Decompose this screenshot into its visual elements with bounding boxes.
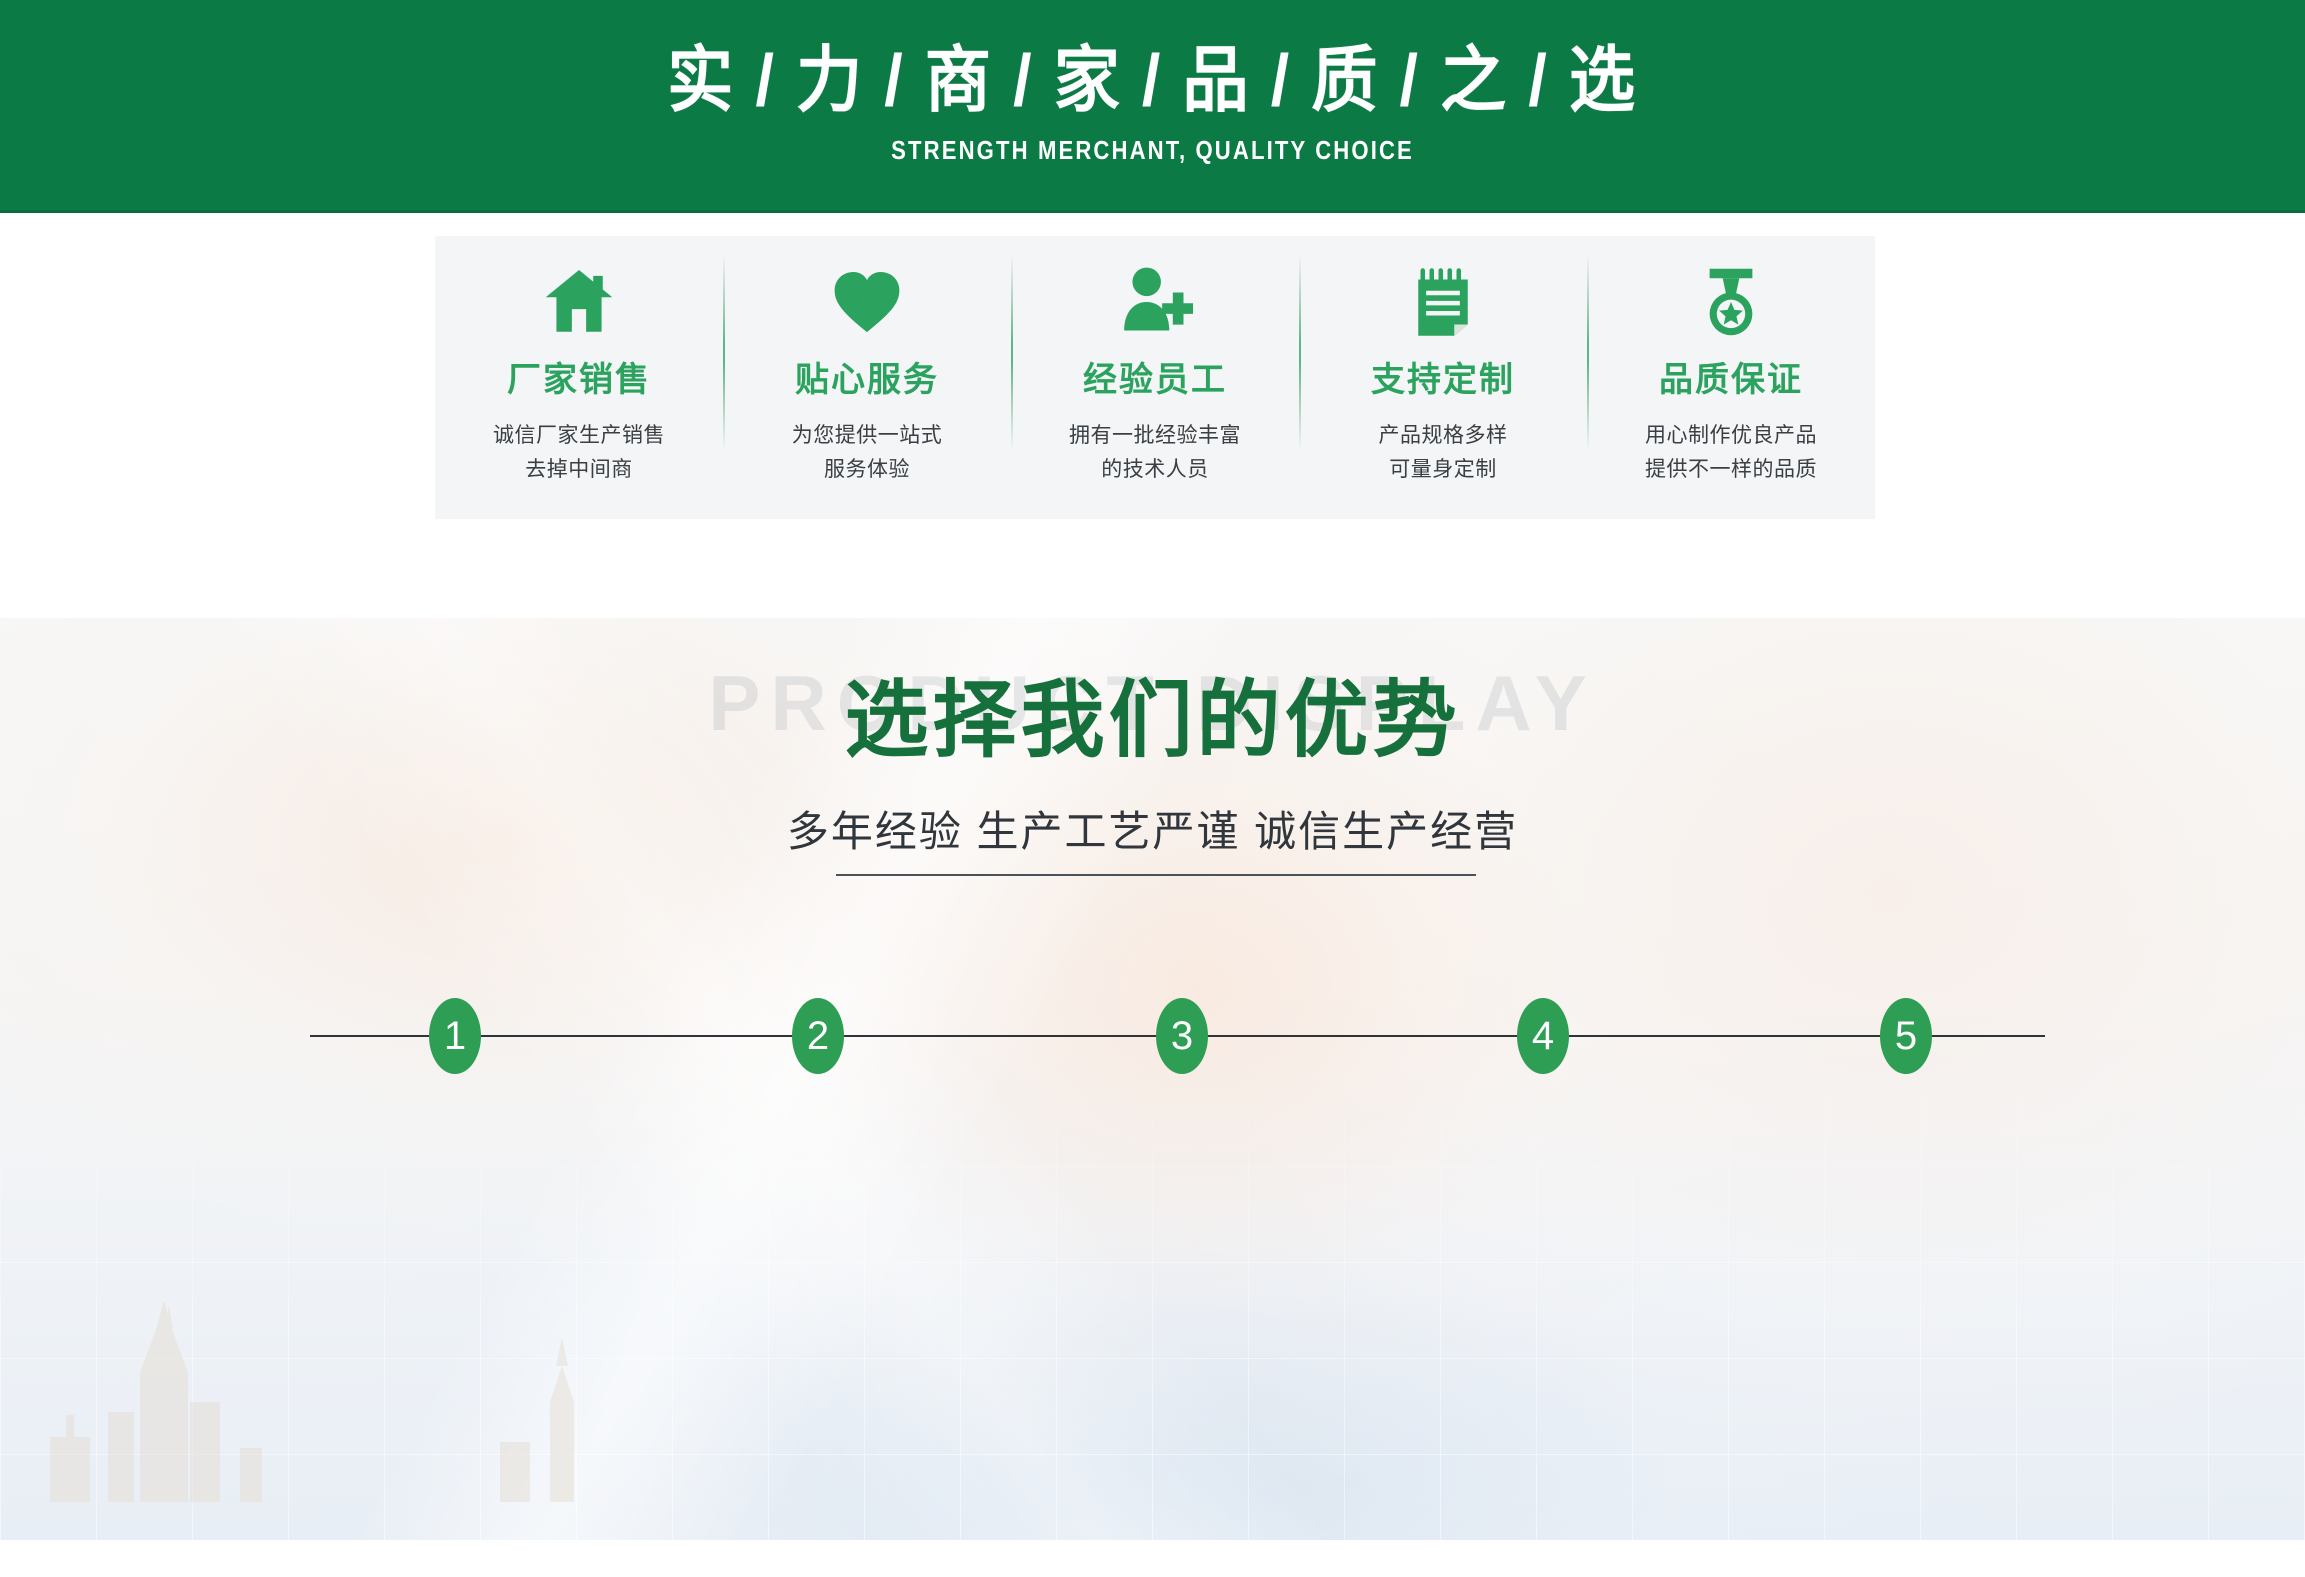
feature-desc-line2: 提供不一样的品质 — [1645, 453, 1817, 488]
banner-subtitle: STRENGTH MERCHANT, QUALITY CHOICE — [891, 135, 1414, 166]
top-banner: 实 / 力 / 商 / 家 / 品 / 质 / 之 / 选 STRENGTH M… — [0, 0, 2305, 213]
notepad-icon — [1399, 258, 1487, 346]
feature-desc: 为您提供一站式 服务体验 — [792, 419, 943, 488]
feature-item-factory-sales[interactable]: 厂家销售 诚信厂家生产销售 去掉中间商 — [435, 236, 723, 519]
step-badge-5[interactable]: 5 — [1880, 998, 1932, 1074]
feature-desc-line1: 拥有一批经验丰富 — [1069, 419, 1241, 454]
footer-strip — [0, 1540, 2305, 1577]
feature-desc-line2: 可量身定制 — [1379, 453, 1508, 488]
feature-desc: 产品规格多样 可量身定制 — [1379, 419, 1508, 488]
house-icon — [535, 258, 623, 346]
feature-item-customization[interactable]: 支持定制 产品规格多样 可量身定制 — [1299, 236, 1587, 519]
feature-desc-line2: 去掉中间商 — [493, 453, 665, 488]
feature-title: 经验员工 — [1083, 360, 1227, 401]
step-badge-4[interactable]: 4 — [1517, 998, 1569, 1074]
feature-title: 贴心服务 — [795, 360, 939, 401]
feature-desc: 诚信厂家生产销售 去掉中间商 — [493, 419, 665, 488]
feature-item-quality-guarantee[interactable]: 品质保证 用心制作优良产品 提供不一样的品质 — [1587, 236, 1875, 519]
features-section: 厂家销售 诚信厂家生产销售 去掉中间商 贴心服务 为您提供一站式 服务体验 — [0, 213, 2305, 618]
advantage-title: 选择我们的优势 — [0, 674, 2305, 766]
step-badge-2[interactable]: 2 — [792, 998, 844, 1074]
feature-desc: 拥有一批经验丰富 的技术人员 — [1069, 419, 1241, 488]
city-skyline-icon — [0, 1252, 630, 1502]
feature-desc-line1: 为您提供一站式 — [792, 419, 943, 454]
feature-item-experienced-staff[interactable]: 经验员工 拥有一批经验丰富 的技术人员 — [1011, 236, 1299, 519]
feature-item-service[interactable]: 贴心服务 为您提供一站式 服务体验 — [723, 236, 1011, 519]
feature-desc-line2: 服务体验 — [792, 453, 943, 488]
step-badge-3[interactable]: 3 — [1156, 998, 1208, 1074]
feature-desc-line1: 产品规格多样 — [1379, 419, 1508, 454]
person-plus-icon — [1111, 258, 1199, 346]
heading-divider — [836, 874, 1476, 876]
medal-icon — [1687, 258, 1775, 346]
advantage-section: PRODUCT DISPLAY 选择我们的优势 多年经验 生产工艺严谨 诚信生产… — [0, 618, 2305, 1540]
step-badge-1[interactable]: 1 — [429, 998, 481, 1074]
advantage-subtitle: 多年经验 生产工艺严谨 诚信生产经营 — [0, 798, 2305, 859]
feature-title: 支持定制 — [1371, 360, 1515, 401]
steps-timeline: 1 2 3 4 5 — [310, 998, 2045, 1074]
feature-title: 品质保证 — [1659, 360, 1803, 401]
feature-desc-line1: 用心制作优良产品 — [1645, 419, 1817, 454]
heart-icon — [823, 258, 911, 346]
feature-desc-line1: 诚信厂家生产销售 — [493, 419, 665, 454]
feature-desc: 用心制作优良产品 提供不一样的品质 — [1645, 419, 1817, 488]
features-panel: 厂家销售 诚信厂家生产销售 去掉中间商 贴心服务 为您提供一站式 服务体验 — [435, 236, 1875, 519]
page-root: 实 / 力 / 商 / 家 / 品 / 质 / 之 / 选 STRENGTH M… — [0, 0, 2305, 1577]
banner-title: 实 / 力 / 商 / 家 / 品 / 质 / 之 / 选 — [668, 44, 1638, 120]
feature-title: 厂家销售 — [507, 360, 651, 401]
timeline-nodes: 1 2 3 4 5 — [310, 998, 2045, 1074]
feature-desc-line2: 的技术人员 — [1069, 453, 1241, 488]
